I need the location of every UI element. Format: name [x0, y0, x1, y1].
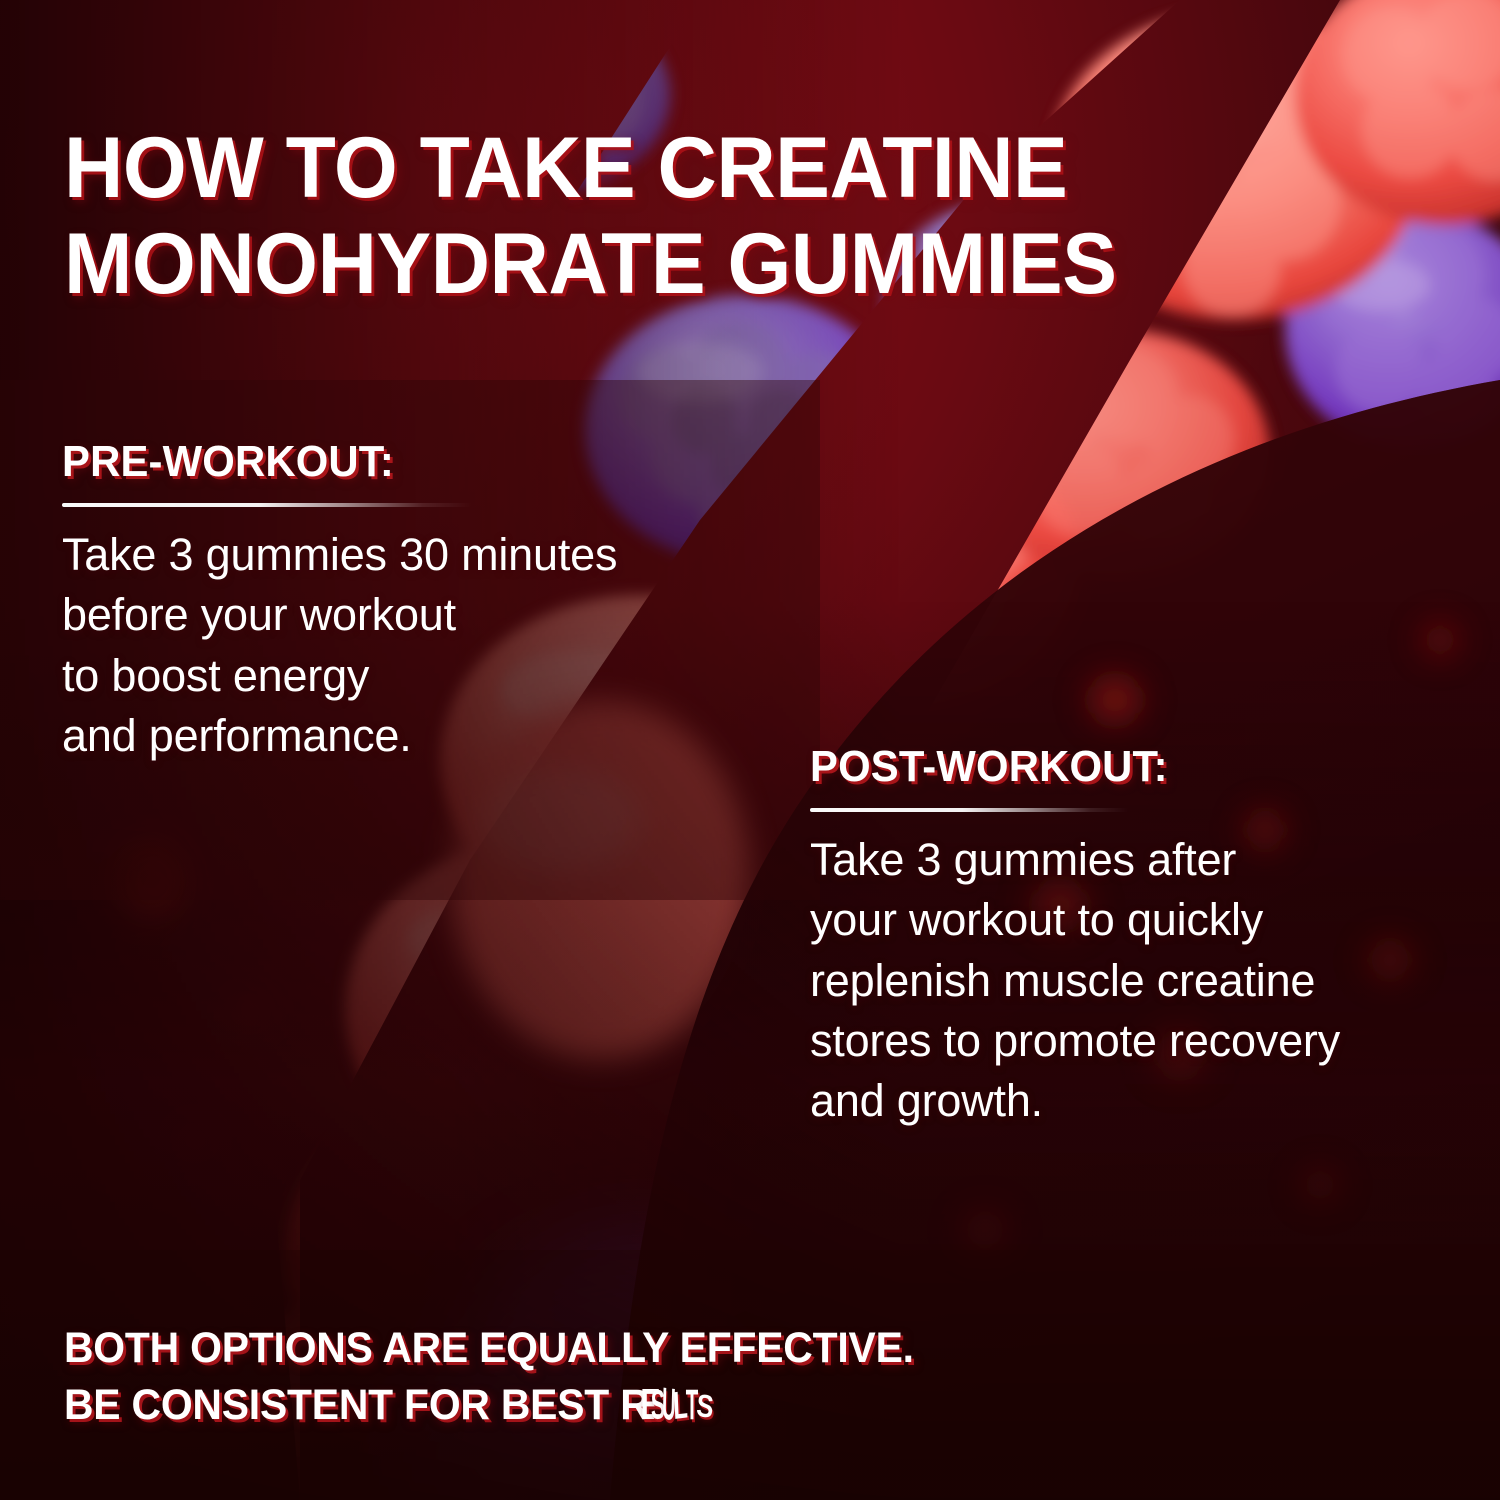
post-workout-heading: POST-WORKOUT:	[810, 742, 1437, 792]
pre-workout-section: PRE-WORKOUT: Take 3 gummies 30 minutes b…	[62, 437, 782, 766]
footer-line-2: BE CONSISTENT FOR BEST RESULTS	[64, 1377, 1375, 1434]
poster-content: HOW TO TAKE CREATINE MONOHYDRATE GUMMIES…	[0, 0, 1500, 1500]
pre-workout-divider	[62, 503, 472, 507]
pre-workout-heading: PRE-WORKOUT:	[62, 437, 746, 487]
footer-note: BOTH OPTIONS ARE EQUALLY EFFECTIVE. BE C…	[64, 1320, 1375, 1434]
pre-workout-body: Take 3 gummies 30 minutes before your wo…	[62, 525, 782, 766]
post-workout-section: POST-WORKOUT: Take 3 gummies after your …	[810, 742, 1470, 1131]
post-workout-body: Take 3 gummies after your workout to qui…	[810, 830, 1470, 1131]
promo-poster: HOW TO TAKE CREATINE MONOHYDRATE GUMMIES…	[0, 0, 1500, 1500]
footer-line-2-prefix: BE CONSISTENT FOR BEST	[64, 1381, 620, 1429]
post-workout-divider	[810, 808, 1128, 812]
glitch-glyph: S	[695, 1385, 715, 1429]
page-title: HOW TO TAKE CREATINE MONOHYDRATE GUMMIES	[64, 120, 1277, 313]
footer-glitched-word-results: RESULTS	[620, 1377, 809, 1434]
footer-line-1: BOTH OPTIONS ARE EQUALLY EFFECTIVE.	[64, 1320, 1375, 1377]
